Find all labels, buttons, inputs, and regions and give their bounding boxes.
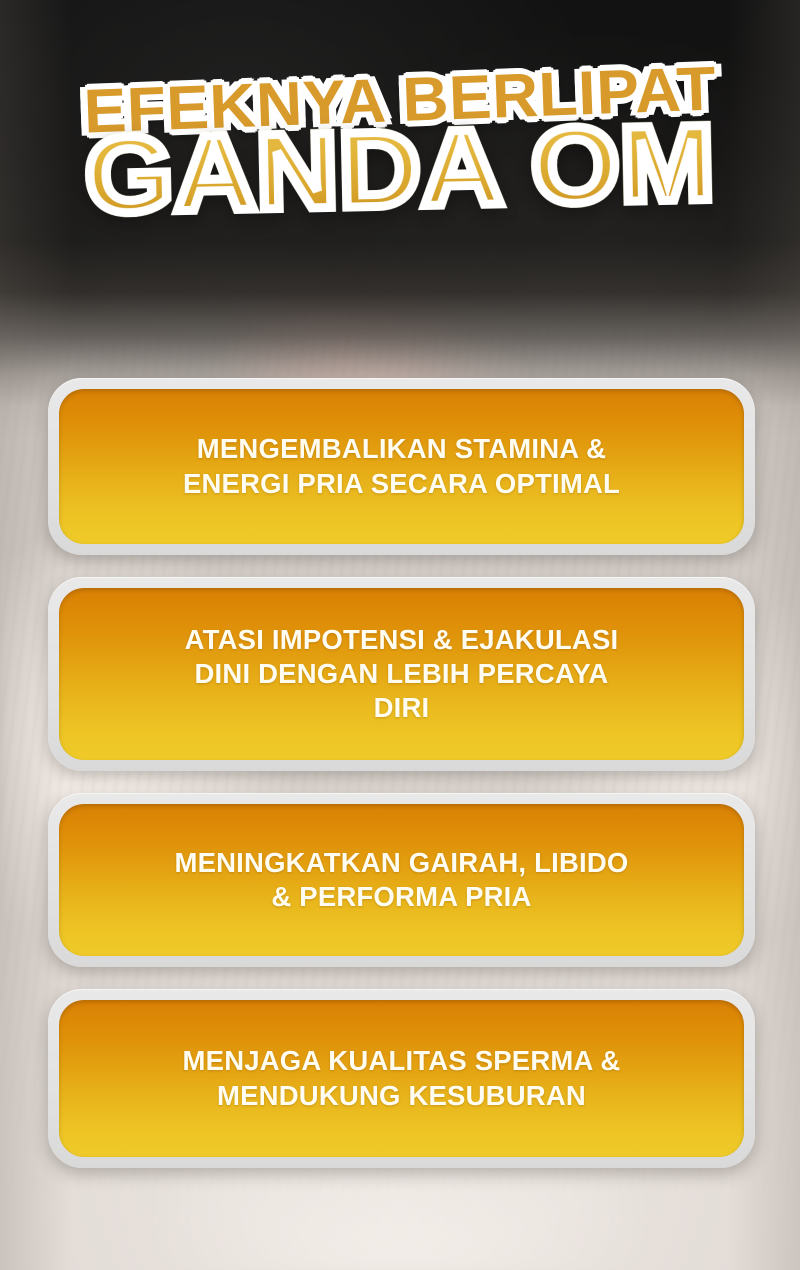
benefit-card-text: MENJAGA KUALITAS SPERMA & MENDUKUNG KESU…	[165, 1030, 639, 1126]
benefit-card-gairah[interactable]: MENINGKATKAN GAIRAH, LIBIDO & PERFORMA P…	[48, 793, 755, 967]
benefit-card-list: MENGEMBALIKAN STAMINA & ENERGI PRIA SECA…	[48, 378, 755, 1168]
benefit-card-line: MENJAGA KUALITAS SPERMA &	[183, 1045, 621, 1076]
benefit-card-body: MENJAGA KUALITAS SPERMA & MENDUKUNG KESU…	[59, 1000, 744, 1157]
benefit-card-line: ENERGI PRIA SECARA OPTIMAL	[183, 468, 620, 499]
benefit-card-line: DINI DENGAN LEBIH PERCAYA	[194, 658, 608, 689]
benefit-card-line: DIRI	[374, 692, 430, 723]
benefit-card-sperma[interactable]: MENJAGA KUALITAS SPERMA & MENDUKUNG KESU…	[48, 989, 755, 1168]
promo-poster: EFEKNYA BERLIPAT GANDA OM MENGEMBALIKAN …	[0, 0, 800, 1270]
benefit-card-text: ATASI IMPOTENSI & EJAKULASI DINI DENGAN …	[167, 609, 637, 739]
benefit-card-body: MENGEMBALIKAN STAMINA & ENERGI PRIA SECA…	[59, 389, 744, 544]
benefit-card-line: MENDUKUNG KESUBURAN	[217, 1080, 586, 1111]
benefit-card-text: MENINGKATKAN GAIRAH, LIBIDO & PERFORMA P…	[156, 832, 646, 928]
benefit-card-line: & PERFORMA PRIA	[271, 881, 531, 912]
benefit-card-impotensi[interactable]: ATASI IMPOTENSI & EJAKULASI DINI DENGAN …	[48, 577, 755, 771]
benefit-card-line: ATASI IMPOTENSI & EJAKULASI	[185, 624, 619, 655]
benefit-card-line: MENINGKATKAN GAIRAH, LIBIDO	[174, 847, 628, 878]
benefit-card-body: MENINGKATKAN GAIRAH, LIBIDO & PERFORMA P…	[59, 804, 744, 956]
benefit-card-stamina[interactable]: MENGEMBALIKAN STAMINA & ENERGI PRIA SECA…	[48, 378, 755, 555]
benefit-card-line: MENGEMBALIKAN STAMINA &	[197, 433, 606, 464]
benefit-card-text: MENGEMBALIKAN STAMINA & ENERGI PRIA SECA…	[165, 418, 638, 514]
benefit-card-body: ATASI IMPOTENSI & EJAKULASI DINI DENGAN …	[59, 588, 744, 760]
